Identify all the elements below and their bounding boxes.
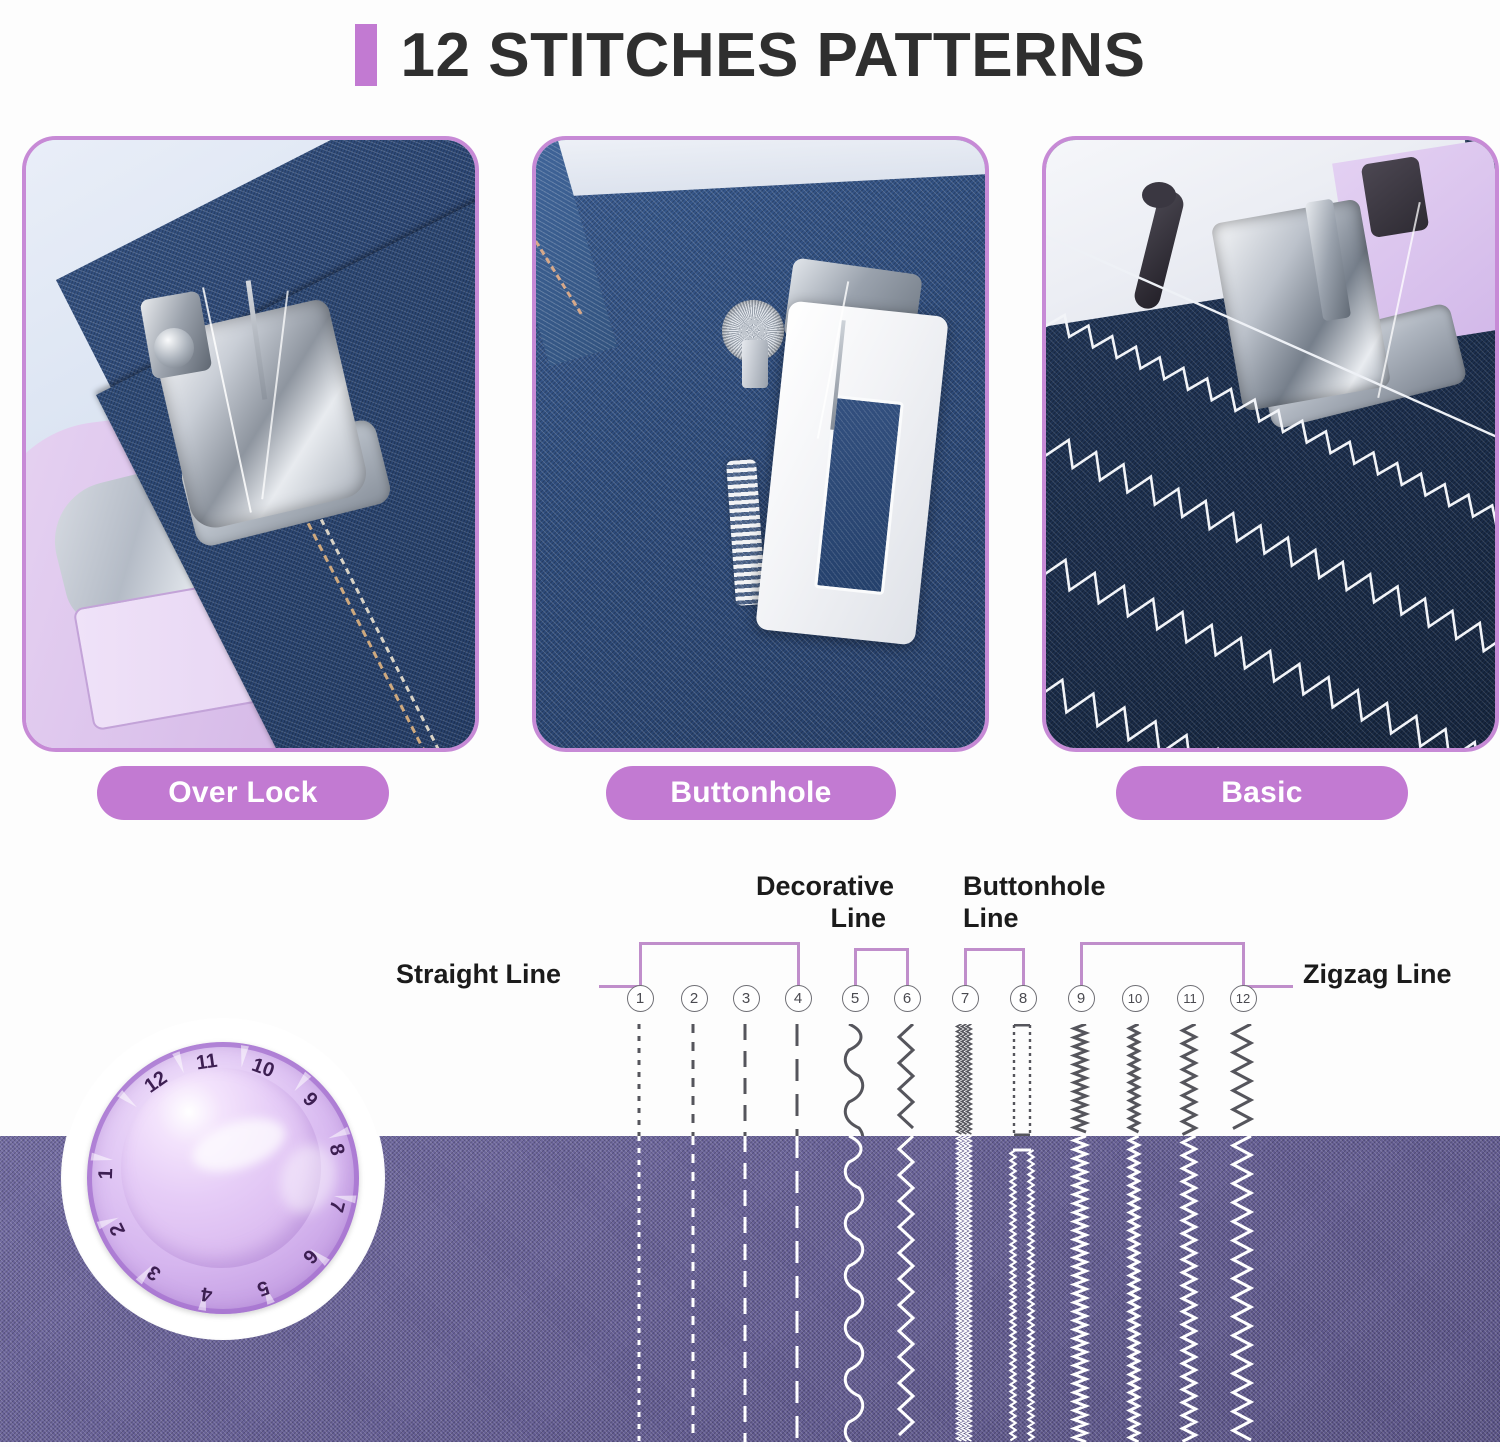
bracket-straight-line (639, 942, 800, 988)
stitch-number-7: 7 (952, 985, 979, 1012)
stitch-sample-12 (1214, 1024, 1270, 1136)
fabric-stitch-2 (665, 1136, 721, 1442)
stitch-number-label: 7 (961, 990, 969, 1007)
stitch-number-8: 8 (1010, 985, 1037, 1012)
fabric-stitch-12 (1214, 1136, 1270, 1442)
fabric-stitch-6 (878, 1136, 934, 1442)
bracket-zigzag-line (1080, 942, 1245, 988)
page-title: 12 STITCHES PATTERNS (401, 20, 1146, 91)
stitch-number-3: 3 (733, 985, 760, 1012)
stitch-number-9: 9 (1068, 985, 1095, 1012)
stitch-selector-dial[interactable]: 123456789101112 (63, 1018, 383, 1338)
stitch-number-1: 1 (627, 985, 654, 1012)
caption-label: Over Lock (168, 776, 317, 810)
fabric-stitch-11 (1161, 1136, 1217, 1442)
fabric-stitch-3 (717, 1136, 773, 1442)
bracket-decorative-line (854, 948, 909, 988)
caption-label: Buttonhole (670, 776, 831, 810)
stitch-number-label: 4 (794, 990, 802, 1007)
stitch-number-4: 4 (785, 985, 812, 1012)
stitch-number-label: 2 (690, 990, 698, 1007)
caption-label: Basic (1221, 776, 1303, 810)
fabric-stitch-4 (769, 1136, 825, 1442)
fabric-stitch-5 (826, 1136, 882, 1442)
stitch-number-label: 6 (903, 990, 911, 1007)
stitch-number-label: 5 (851, 990, 859, 1007)
stitch-number-label: 10 (1128, 991, 1142, 1006)
basic-zigzag-stitch-photo (1046, 140, 1495, 748)
caption-pill-buttonhole: Buttonhole (606, 766, 896, 820)
caption-pill-over-lock: Over Lock (97, 766, 389, 820)
accent-bar (355, 24, 377, 86)
photo-card-over-lock (22, 136, 479, 752)
overlock-stitch-photo (26, 140, 475, 748)
stitch-sample-11 (1161, 1024, 1217, 1136)
group-label-buttonhole-line: Buttonhole Line (963, 870, 1103, 934)
photo-card-basic (1042, 136, 1499, 752)
stitch-sample-4 (769, 1024, 825, 1136)
stitch-number-label: 11 (1183, 991, 1197, 1006)
stitch-number-label: 12 (1236, 991, 1250, 1006)
stitch-number-12: 12 (1230, 985, 1257, 1012)
stitch-sample-5 (826, 1024, 882, 1136)
stitch-sample-3 (717, 1024, 773, 1136)
group-label-straight-line: Straight Line (396, 958, 561, 990)
stitch-sample-2 (665, 1024, 721, 1136)
stitch-sample-9 (1052, 1024, 1108, 1136)
fabric-stitch-7 (936, 1136, 992, 1442)
page-header: 12 STITCHES PATTERNS (0, 0, 1500, 110)
photo-card-buttonhole (532, 136, 989, 752)
dial-cap (121, 1068, 321, 1268)
stitch-sample-6 (878, 1024, 934, 1136)
fabric-stitch-8 (994, 1136, 1050, 1442)
stitch-number-label: 9 (1077, 990, 1085, 1007)
buttonhole-stitch-photo (536, 140, 985, 748)
group-label-zigzag-line: Zigzag Line (1303, 958, 1452, 990)
caption-pill-basic: Basic (1116, 766, 1408, 820)
bracket-buttonhole-line (964, 948, 1025, 988)
stitch-number-label: 1 (636, 990, 644, 1007)
stitch-sample-1 (611, 1024, 667, 1136)
stitch-sample-7 (936, 1024, 992, 1136)
fabric-stitch-1 (611, 1136, 667, 1442)
stitch-number-label: 3 (742, 990, 750, 1007)
stitch-sample-10 (1106, 1024, 1162, 1136)
stitch-number-10: 10 (1122, 985, 1149, 1012)
stitch-number-11: 11 (1177, 985, 1204, 1012)
stitch-number-2: 2 (681, 985, 708, 1012)
group-label-decorative-line: Decorative Line (756, 870, 886, 934)
stitch-number-5: 5 (842, 985, 869, 1012)
fabric-stitch-10 (1106, 1136, 1162, 1442)
fabric-stitch-9 (1052, 1136, 1108, 1442)
stitch-number-label: 8 (1019, 990, 1027, 1007)
stitch-number-6: 6 (894, 985, 921, 1012)
stitch-sample-8 (994, 1024, 1050, 1136)
